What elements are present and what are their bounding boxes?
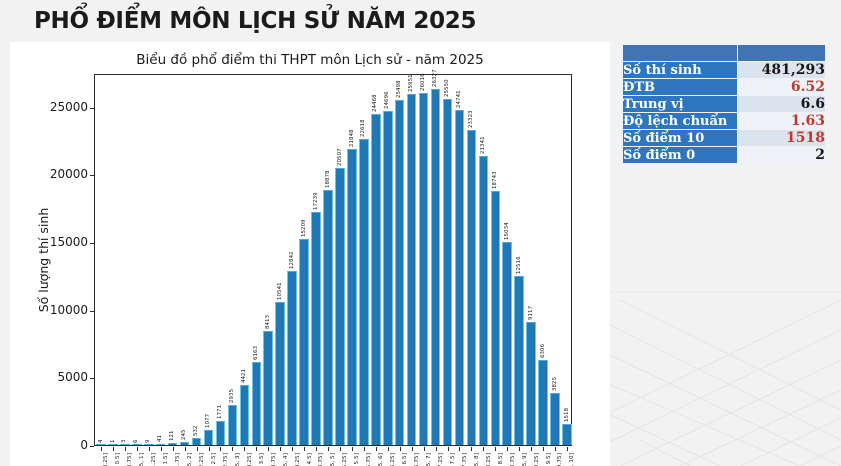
- x-tick-mark: [137, 447, 138, 451]
- bar-value-label: 21848: [349, 130, 355, 148]
- table-row: Độ lệch chuẩn1.63: [623, 113, 825, 129]
- x-tick-mark: [280, 447, 281, 451]
- x-tick-label: (9.25, 9.5]: [546, 453, 552, 466]
- x-tick-mark: [209, 447, 210, 451]
- bar-value-label: 8413: [265, 315, 271, 329]
- stat-label: Số điểm 10: [623, 130, 737, 146]
- stat-value: 481,293: [738, 62, 825, 78]
- x-tick-label: (7.25, 7.5]: [450, 453, 456, 466]
- bar: [383, 111, 393, 445]
- bar-value-label: 26327: [432, 69, 438, 87]
- bar-value-label: 6: [133, 439, 139, 443]
- stat-value: 6.52: [738, 79, 825, 95]
- x-tick-mark: [471, 447, 472, 451]
- y-tick-label: 5000: [34, 370, 88, 384]
- bar: [323, 190, 333, 445]
- x-tick-mark: [424, 447, 425, 451]
- x-tick-label: (5, 5.25]: [342, 453, 348, 466]
- x-tick-label: (6.5, 6.75]: [414, 453, 420, 466]
- bar-value-label: 26016: [420, 73, 426, 91]
- bar: [120, 444, 130, 445]
- bar: [395, 100, 405, 445]
- bar: [144, 444, 154, 445]
- x-tick-mark: [459, 447, 460, 451]
- bar-value-label: 6163: [253, 346, 259, 360]
- x-tick-label: (6.75, 7]: [426, 453, 432, 466]
- bar: [371, 114, 381, 445]
- bar: [204, 430, 214, 445]
- x-tick-mark: [292, 447, 293, 451]
- y-tick-label: 20000: [34, 167, 88, 181]
- bar-value-label: 24696: [384, 91, 390, 109]
- bar: [287, 271, 297, 445]
- x-tick-mark: [495, 447, 496, 451]
- bar-value-label: 12516: [516, 256, 522, 274]
- x-tick-label: (1.25, 1.5]: [163, 453, 169, 466]
- x-tick-mark: [436, 447, 437, 451]
- bar-value-label: 15209: [301, 220, 307, 238]
- x-tick-mark: [519, 447, 520, 451]
- y-tick-label: 25000: [34, 100, 88, 114]
- bar: [168, 443, 178, 445]
- bar: [156, 444, 166, 445]
- table-row: Trung vị6.6: [623, 96, 825, 112]
- x-tick-label: (5.5, 5.75]: [366, 453, 372, 466]
- bar: [275, 302, 285, 445]
- plot-area: 4136941121245532107717712935442161638413…: [94, 74, 572, 446]
- bar-value-label: 23323: [468, 110, 474, 128]
- x-tick-mark: [101, 447, 102, 451]
- x-tick-mark: [364, 447, 365, 451]
- x-tick-mark: [256, 447, 257, 451]
- table-row: Số điểm 02: [623, 147, 825, 163]
- bar: [526, 322, 536, 445]
- x-tick-mark: [113, 447, 114, 451]
- bar-value-label: 532: [193, 425, 199, 436]
- bar-value-label: 1: [110, 439, 116, 443]
- x-tick-label: (0.75, 1]: [139, 453, 145, 466]
- x-tick-label: (7.5, 7.75]: [462, 453, 468, 466]
- table-row: Số điểm 101518: [623, 130, 825, 146]
- bar: [502, 242, 512, 445]
- bar-value-label: 15034: [504, 222, 510, 240]
- x-tick-label: (8.25, 8.5]: [498, 453, 504, 466]
- bar: [455, 110, 465, 445]
- bar-value-label: 4: [98, 439, 104, 443]
- stat-label: ĐTB: [623, 79, 737, 95]
- x-tick-mark: [388, 447, 389, 451]
- x-tick-mark: [328, 447, 329, 451]
- bar-value-label: 24468: [372, 94, 378, 112]
- bar: [467, 130, 477, 445]
- x-tick-mark: [125, 447, 126, 451]
- table-row: Số thí sinh481,293: [623, 62, 825, 78]
- x-tick-label: (9.75, 10]: [569, 453, 575, 466]
- bar: [108, 444, 118, 445]
- y-tick-mark: [90, 446, 94, 447]
- bar: [216, 421, 226, 445]
- x-tick-label: (1, 1.25]: [151, 453, 157, 466]
- bar: [562, 424, 572, 445]
- table-row: ĐTB6.52: [623, 79, 825, 95]
- bar-value-label: 2935: [229, 389, 235, 403]
- x-tick-label: (7.75, 8]: [474, 453, 480, 466]
- bar-value-label: 9: [145, 439, 151, 443]
- bar-value-label: 12842: [289, 252, 295, 270]
- stats-table-body: Số thí sinh481,293ĐTB6.52Trung vị6.6Độ l…: [623, 45, 825, 163]
- stat-label: Số thí sinh: [623, 62, 737, 78]
- x-tick-label: (2.25, 2.5]: [211, 453, 217, 466]
- stat-label: Trung vị: [623, 96, 737, 112]
- x-tick-label: (0.25, 0.5]: [115, 453, 121, 466]
- x-tick-label: (6, 6.25]: [390, 453, 396, 466]
- summary-stats-table: Số thí sinh481,293ĐTB6.52Trung vị6.6Độ l…: [622, 44, 826, 164]
- x-tick-label: (4.25, 4.5]: [307, 453, 313, 466]
- stat-value: 1.63: [738, 113, 825, 129]
- x-tick-label: (4.75, 5]: [330, 453, 336, 466]
- x-tick-label: (1.5, 1.75]: [175, 453, 181, 466]
- bar: [538, 360, 548, 445]
- x-tick-mark: [531, 447, 532, 451]
- y-tick-label: 10000: [34, 303, 88, 317]
- bar-value-label: 1771: [217, 405, 223, 419]
- header-cell-value: [738, 45, 825, 61]
- bar: [359, 139, 369, 445]
- bar: [479, 156, 489, 445]
- x-tick-mark: [161, 447, 162, 451]
- stat-value: 2: [738, 147, 825, 163]
- bar-value-label: 22618: [360, 119, 366, 137]
- x-tick-label: (8, 8.25]: [486, 453, 492, 466]
- bar-value-label: 3825: [552, 377, 558, 391]
- header-cell-label: [623, 45, 737, 61]
- bar-value-label: 4421: [241, 369, 247, 383]
- x-tick-label: (9, 9.25]: [534, 453, 540, 466]
- bar: [514, 276, 524, 445]
- bar: [491, 191, 501, 445]
- bar: [96, 444, 106, 445]
- bar: [443, 99, 453, 445]
- bar: [311, 212, 321, 445]
- x-tick-label: (5.75, 6]: [378, 453, 384, 466]
- bar-value-label: 25498: [396, 80, 402, 98]
- x-tick-mark: [507, 447, 508, 451]
- x-tick-mark: [244, 447, 245, 451]
- stat-value: 6.6: [738, 96, 825, 112]
- bar-value-label: 41: [157, 435, 163, 442]
- bar-value-label: 24741: [456, 91, 462, 109]
- bar-value-label: 18743: [492, 172, 498, 190]
- x-tick-mark: [448, 447, 449, 451]
- chart-title: Biểu đồ phổ điểm thi THPT môn Lịch sử - …: [10, 52, 610, 68]
- x-tick-label: (3.25, 3.5]: [259, 453, 265, 466]
- table-header-row: [623, 45, 825, 61]
- x-tick-label: (3.5, 3.75]: [271, 453, 277, 466]
- bar: [419, 93, 429, 445]
- x-tick-mark: [304, 447, 305, 451]
- x-tick-mark: [352, 447, 353, 451]
- bar: [407, 94, 417, 445]
- x-tick-mark: [268, 447, 269, 451]
- x-tick-label: (8.75, 9]: [522, 453, 528, 466]
- bar: [299, 239, 309, 445]
- x-tick-label: (9.5, 9.75]: [557, 453, 563, 466]
- x-tick-mark: [567, 447, 568, 451]
- x-tick-label: (0.5, 0.75]: [127, 453, 133, 466]
- bar-value-label: 6306: [540, 344, 546, 358]
- bar: [263, 331, 273, 445]
- x-tick-label: (7, 7.25]: [438, 453, 444, 466]
- bar-value-label: 10541: [277, 283, 283, 301]
- bar: [180, 442, 190, 445]
- bar-value-label: 1518: [564, 408, 570, 422]
- x-tick-label: (3, 3.25]: [247, 453, 253, 466]
- x-tick-label: (6.25, 6.5]: [402, 453, 408, 466]
- x-tick-mark: [173, 447, 174, 451]
- page-title: PHỔ ĐIỂM MÔN LỊCH SỬ NĂM 2025: [34, 8, 476, 34]
- x-tick-label: (1.75, 2]: [187, 453, 193, 466]
- y-axis-label: Số lượng thí sinh: [36, 74, 54, 446]
- x-tick-label: [0, 0.25]: [103, 453, 109, 466]
- bar: [192, 438, 202, 445]
- bar-value-label: 20507: [337, 148, 343, 166]
- x-tick-mark: [185, 447, 186, 451]
- x-tick-label: (2.5, 2.75]: [223, 453, 229, 466]
- y-tick-label: 0: [34, 438, 88, 452]
- bar-value-label: 18878: [325, 170, 331, 188]
- x-tick-label: (4, 4.25]: [295, 453, 301, 466]
- bar-value-label: 21341: [480, 137, 486, 155]
- bar: [228, 405, 238, 445]
- bar: [240, 385, 250, 445]
- bar-value-label: 17239: [313, 192, 319, 210]
- bar-value-label: 1077: [205, 414, 211, 428]
- x-tick-mark: [376, 447, 377, 451]
- x-tick-label: (2, 2.25]: [199, 453, 205, 466]
- x-tick-label: (8.5, 8.75]: [510, 453, 516, 466]
- x-tick-mark: [316, 447, 317, 451]
- stat-label: Độ lệch chuẩn: [623, 113, 737, 129]
- bar-value-label: 3: [121, 439, 127, 443]
- x-tick-mark: [197, 447, 198, 451]
- bar: [132, 444, 142, 445]
- x-tick-mark: [412, 447, 413, 451]
- bar-value-label: 25550: [444, 80, 450, 98]
- stat-label: Số điểm 0: [623, 147, 737, 163]
- x-tick-mark: [232, 447, 233, 451]
- bar: [252, 362, 262, 445]
- bar-value-label: 25951: [408, 74, 414, 92]
- bar-value-label: 245: [181, 429, 187, 440]
- x-tick-label: (5.25, 5.5]: [354, 453, 360, 466]
- stat-value: 1518: [738, 130, 825, 146]
- bar: [335, 168, 345, 445]
- x-tick-label: (4.5, 4.75]: [318, 453, 324, 466]
- x-tick-label: (2.75, 3]: [235, 453, 241, 466]
- bar-value-label: 9117: [528, 306, 534, 320]
- x-tick-mark: [149, 447, 150, 451]
- x-tick-label: (3.75, 4]: [283, 453, 289, 466]
- x-tick-mark: [400, 447, 401, 451]
- bar: [347, 149, 357, 445]
- bar: [550, 393, 560, 445]
- chart-panel: Biểu đồ phổ điểm thi THPT môn Lịch sử - …: [10, 42, 610, 466]
- x-tick-mark: [340, 447, 341, 451]
- bar-value-label: 121: [169, 431, 175, 442]
- bar: [431, 89, 441, 445]
- x-tick-mark: [543, 447, 544, 451]
- y-tick-label: 15000: [34, 235, 88, 249]
- x-tick-mark: [483, 447, 484, 451]
- x-tick-mark: [555, 447, 556, 451]
- x-tick-mark: [220, 447, 221, 451]
